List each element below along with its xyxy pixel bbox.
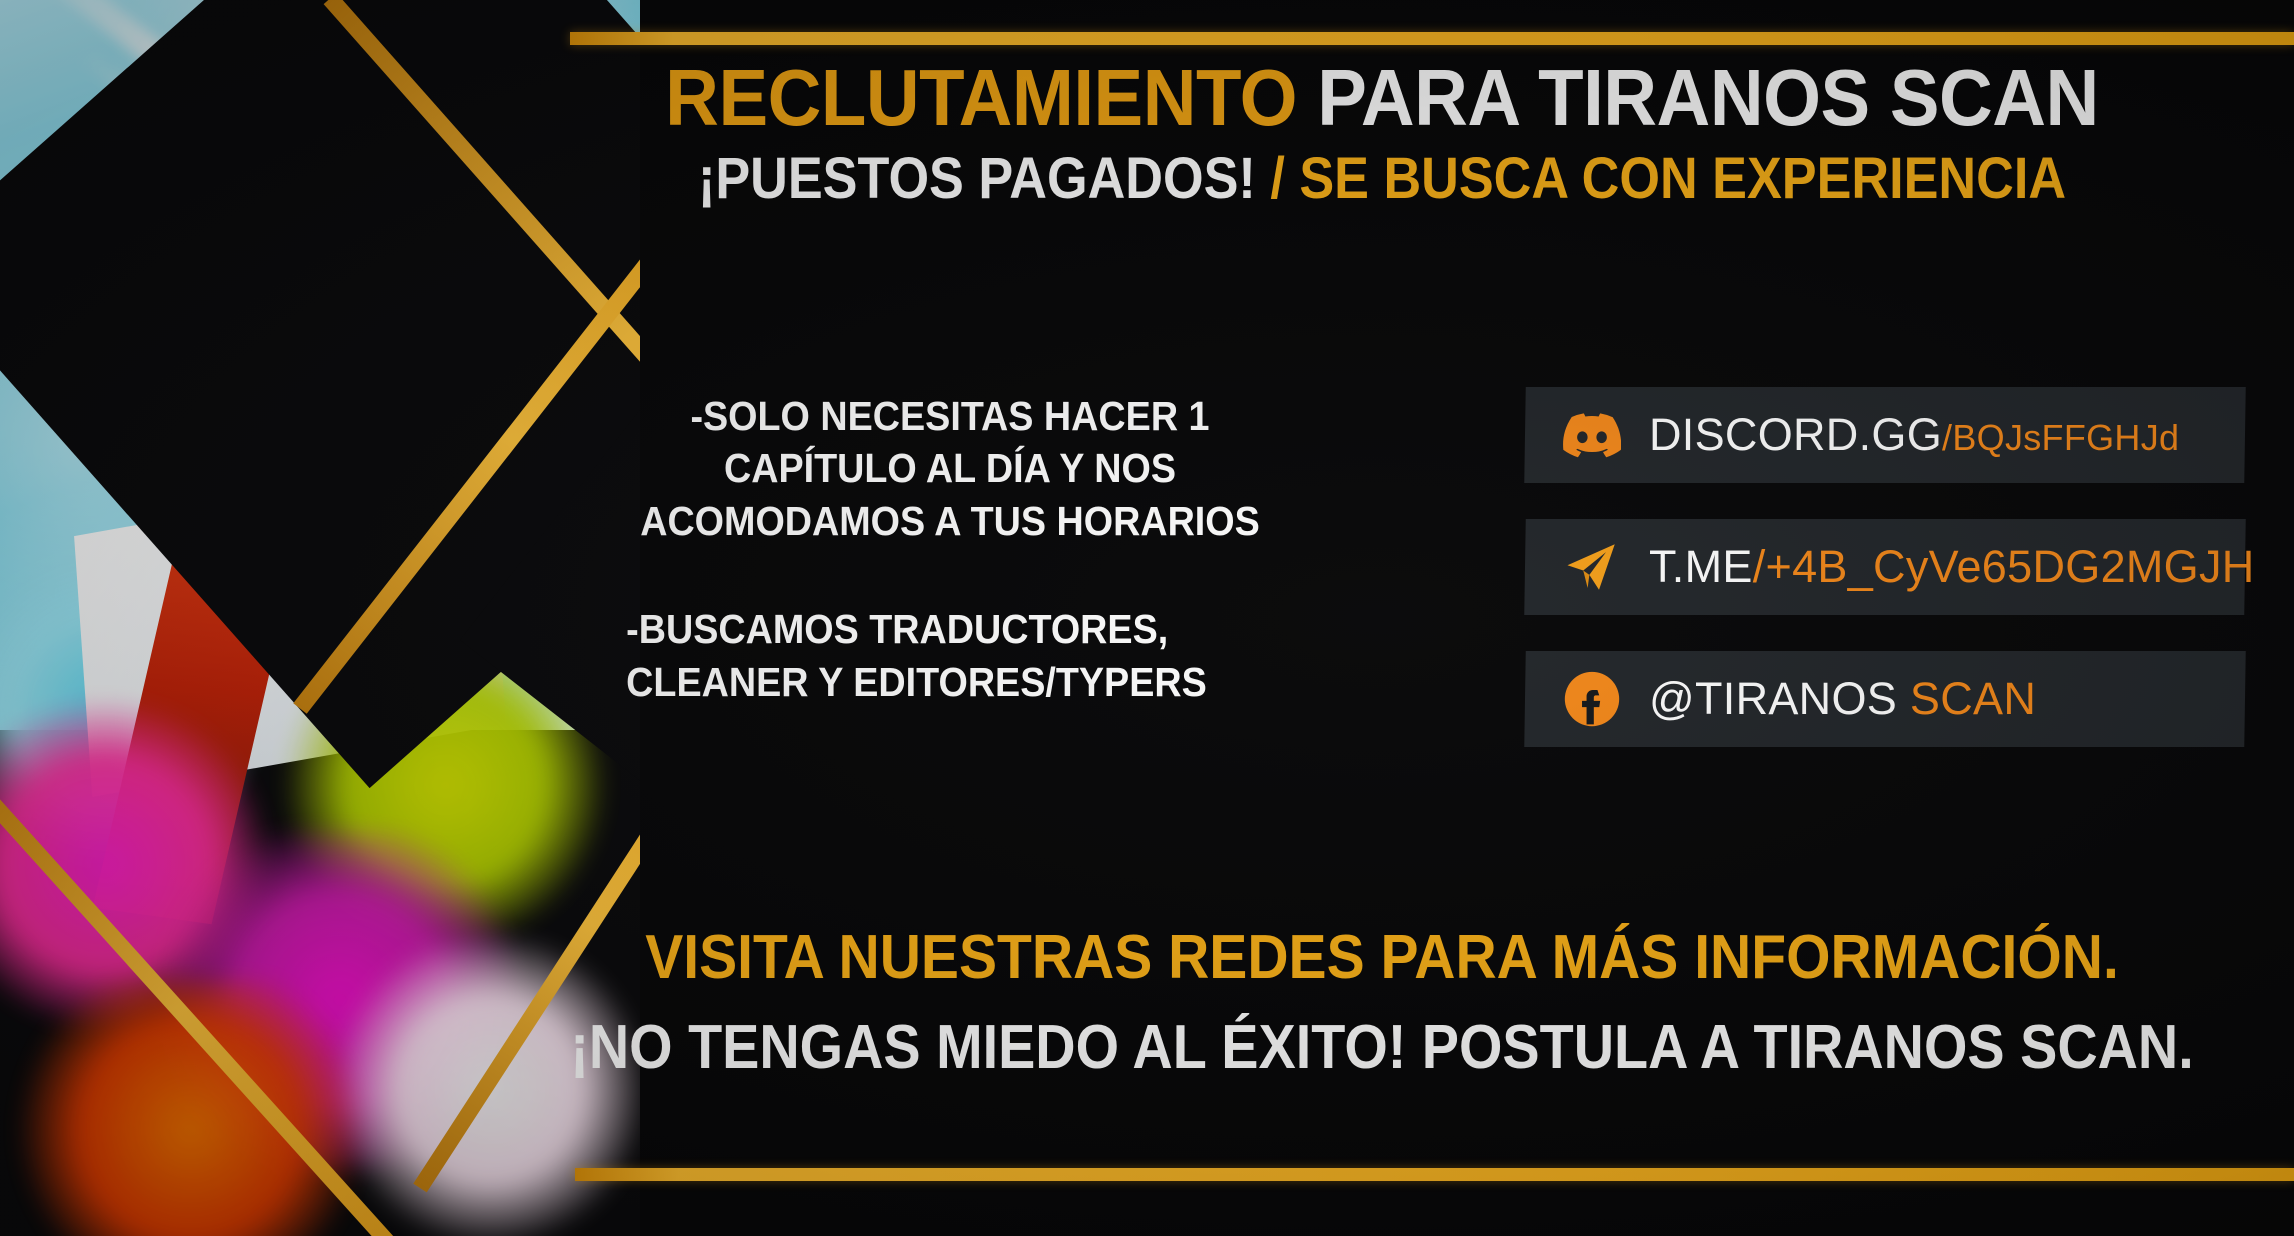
- headline-white-part: PARA TIRANOS SCAN: [1317, 53, 2099, 142]
- bottom-gold-rule: [575, 1168, 2294, 1181]
- list-item: -SOLO NECESITAS HACER 1 CAPÍTULO AL DÍA …: [610, 390, 1291, 547]
- page-title: RECLUTAMIENTO PARA TIRANOS SCAN: [534, 58, 2230, 138]
- telegram-invite-code: /+4B_CyVe65DG2MGJH: [1753, 541, 2255, 592]
- list-item: -BUSCAMOS TRADUCTORES, CLEANER Y EDITORE…: [610, 603, 1291, 708]
- page-subtitle: ¡PUESTOS PAGADOS! / SE BUSCA CON EXPERIE…: [561, 150, 2203, 208]
- subheadline-gold-part: / SE BUSCA CON EXPERIENCIA: [1270, 146, 2066, 211]
- contact-label-facebook: @TIRANOS SCAN: [1649, 673, 2036, 725]
- cta-line-primary: VISITA NUESTRAS REDES PARA MÁS INFORMACI…: [543, 920, 2221, 996]
- top-gold-rule: [570, 32, 2294, 45]
- headline-gold-part: RECLUTAMIENTO: [665, 53, 1297, 142]
- content-area: RECLUTAMIENTO PARA TIRANOS SCAN ¡PUESTOS…: [470, 0, 2294, 1236]
- contact-links-group: DISCORD.GG/BQJsFFGHJd T.ME/+4B_CyVe65DG2…: [1525, 387, 2245, 783]
- subheadline-white-part: ¡PUESTOS PAGADOS!: [698, 146, 1256, 211]
- call-to-action: VISITA NUESTRAS REDES PARA MÁS INFORMACI…: [470, 920, 2294, 1085]
- facebook-handle-suffix: SCAN: [1910, 673, 2036, 724]
- telegram-icon: [1561, 536, 1623, 598]
- contact-label-telegram: T.ME/+4B_CyVe65DG2MGJH: [1649, 541, 2255, 593]
- requirements-list: -SOLO NECESITAS HACER 1 CAPÍTULO AL DÍA …: [610, 390, 1291, 708]
- cta-line-secondary: ¡NO TENGAS MIEDO AL ÉXITO! POSTULA A TIR…: [561, 1010, 2203, 1086]
- facebook-handle: @TIRANOS: [1649, 673, 1897, 724]
- contact-row-facebook[interactable]: @TIRANOS SCAN: [1524, 651, 2246, 747]
- contact-label-discord: DISCORD.GG/BQJsFFGHJd: [1649, 409, 2179, 461]
- discord-icon: [1561, 404, 1623, 466]
- telegram-domain: T.ME: [1649, 541, 1753, 592]
- discord-domain: DISCORD.GG: [1649, 409, 1942, 460]
- contact-row-discord[interactable]: DISCORD.GG/BQJsFFGHJd: [1524, 387, 2246, 483]
- facebook-icon: [1561, 668, 1623, 730]
- recruitment-banner: RECLUTAMIENTO PARA TIRANOS SCAN ¡PUESTOS…: [0, 0, 2294, 1236]
- contact-row-telegram[interactable]: T.ME/+4B_CyVe65DG2MGJH: [1524, 519, 2246, 615]
- discord-invite-code: /BQJsFFGHJd: [1942, 417, 2179, 458]
